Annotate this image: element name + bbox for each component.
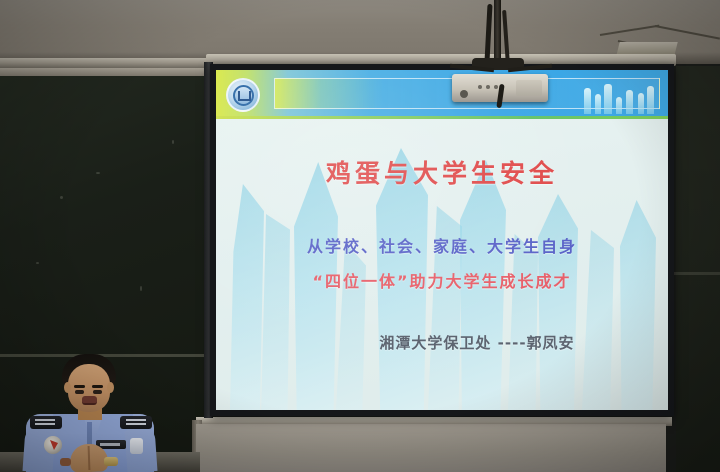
projector-vent — [516, 80, 542, 96]
wall-rail-upper — [0, 58, 215, 68]
chalk-speck — [140, 286, 142, 291]
header-pillar — [638, 93, 644, 114]
projector-mount-pole — [494, 0, 501, 62]
presenter-mouth — [82, 396, 97, 405]
header-pillar — [626, 90, 633, 114]
wall-rail-lower — [0, 68, 215, 76]
presenter-epaulette-right — [120, 416, 152, 429]
chalk-speck — [172, 140, 174, 144]
slide-subtitle-line2: “四位一体”助力大学生成长成才 — [216, 268, 668, 292]
crystal-shape — [230, 184, 264, 410]
header-pillar — [604, 84, 612, 114]
crystal-shape — [508, 234, 538, 410]
slide-header-band — [216, 70, 668, 116]
presentation-slide: 鸡蛋与大学生安全 从学校、社会、家庭、大学生自身 “四位一体”助力大学生成长成才… — [216, 70, 668, 410]
presenter-wristwatch — [104, 457, 118, 466]
presenter-ear-right — [107, 382, 114, 393]
university-emblem-icon — [226, 78, 260, 112]
projector-indicator — [494, 85, 498, 89]
chalk-speck — [36, 262, 39, 264]
presenter — [8, 352, 178, 472]
header-pillar — [595, 94, 601, 114]
slide-subtitle-line1: 从学校、社会、家庭、大学生自身 — [216, 233, 668, 257]
presenter-epaulette-left — [30, 416, 62, 429]
presenter-collar-badge — [44, 436, 62, 454]
projector-indicator — [486, 85, 490, 89]
presenter-arm-patch — [130, 438, 143, 454]
slide-byline: 湘潭大学保卫处 ----郭凤安 — [216, 332, 668, 353]
projection-screen: 鸡蛋与大学生安全 从学校、社会、家庭、大学生自身 “四位一体”助力大学生成长成才… — [216, 70, 668, 410]
blackboard-right-panel — [676, 66, 720, 472]
header-pillar — [584, 88, 591, 114]
header-pillar-graphic — [580, 80, 656, 114]
crystal-shape — [582, 230, 614, 410]
slide-header-rule — [216, 116, 668, 119]
projector-lens — [460, 90, 468, 98]
chalk-speck — [60, 196, 63, 199]
slide-title: 鸡蛋与大学生安全 — [216, 154, 668, 190]
header-pillar — [647, 86, 654, 114]
lecture-hall-scene: 鸡蛋与大学生安全 从学校、社会、家庭、大学生自身 “四位一体”助力大学生成长成才… — [0, 0, 720, 472]
projector-indicator — [478, 85, 482, 89]
presenter-ear-left — [64, 382, 71, 393]
presenter-bracelet — [60, 458, 71, 466]
chalk-speck — [96, 172, 100, 174]
crystal-shape — [620, 200, 656, 410]
crystal-shape — [538, 194, 578, 410]
header-pillar — [616, 97, 622, 114]
lower-wall — [196, 424, 666, 472]
